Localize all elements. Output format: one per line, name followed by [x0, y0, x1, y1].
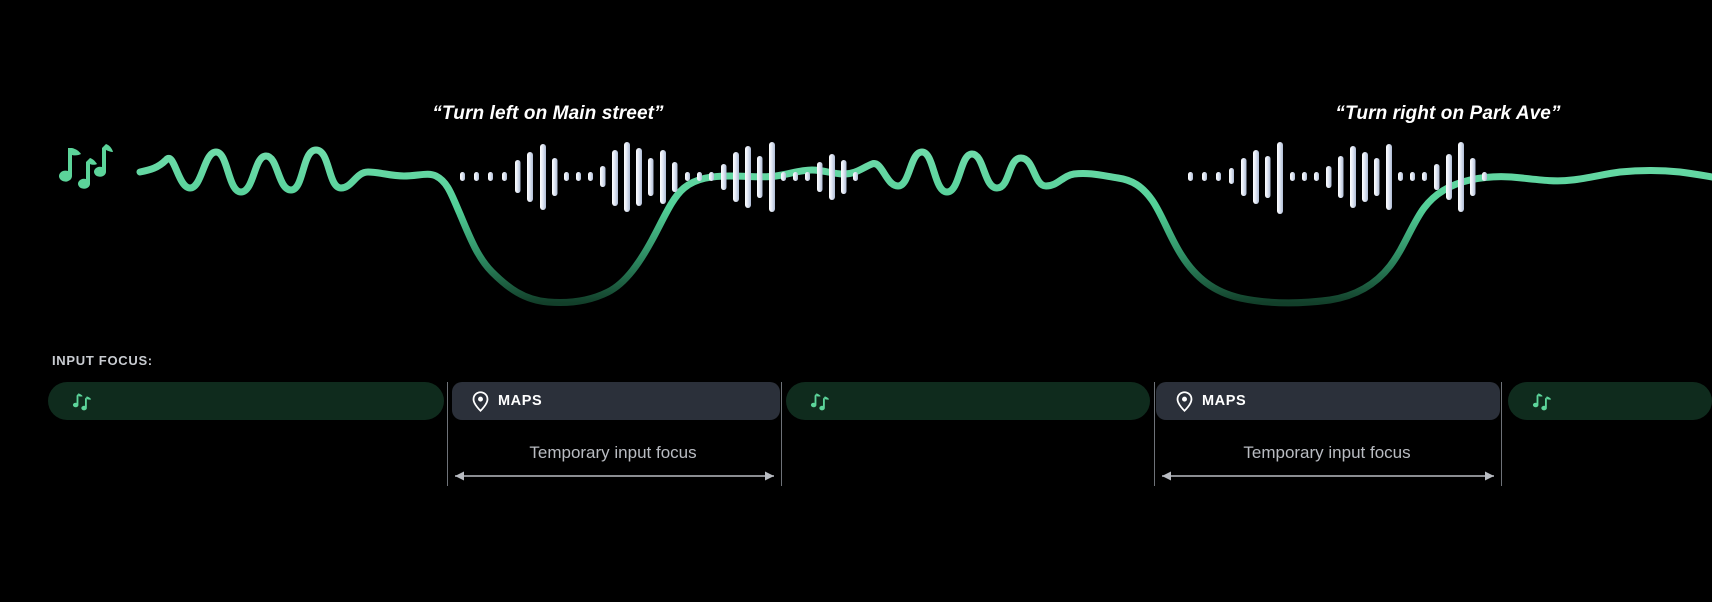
- input-focus-label: INPUT FOCUS:: [52, 353, 153, 368]
- focus-segment-music-3[interactable]: [1508, 382, 1712, 420]
- focus-segment-music-2[interactable]: [786, 382, 1150, 420]
- speech-bars-right: [1188, 142, 1487, 214]
- input-focus-track: MAPS MAPS: [0, 382, 1712, 420]
- music-notes-icon: [1530, 390, 1556, 412]
- waveform-scene: “Turn left on Main street” “Turn right o…: [0, 0, 1712, 340]
- voice-focus-diagram: “Turn left on Main street” “Turn right o…: [0, 0, 1712, 602]
- maps-chip-label: MAPS: [498, 393, 542, 409]
- focus-segment-maps-1[interactable]: MAPS: [452, 382, 780, 420]
- double-arrow-icon: [1154, 468, 1502, 484]
- music-notes-icon: [808, 390, 834, 412]
- annotation-text: Temporary input focus: [1243, 443, 1410, 463]
- music-notes-icon: [50, 138, 114, 194]
- double-arrow-icon: [447, 468, 782, 484]
- music-notes-icon: [70, 390, 96, 412]
- map-pin-icon: [472, 391, 489, 412]
- caption-left: “Turn left on Main street”: [432, 103, 663, 125]
- annotation-text: Temporary input focus: [529, 443, 696, 463]
- speech-bars-left: [460, 142, 858, 212]
- focus-segment-maps-2[interactable]: MAPS: [1156, 382, 1500, 420]
- music-stream-line: [0, 0, 1712, 340]
- maps-chip-label: MAPS: [1202, 393, 1246, 409]
- map-pin-icon: [1176, 391, 1193, 412]
- focus-segment-music-1[interactable]: [48, 382, 444, 420]
- caption-right: “Turn right on Park Ave”: [1335, 103, 1560, 125]
